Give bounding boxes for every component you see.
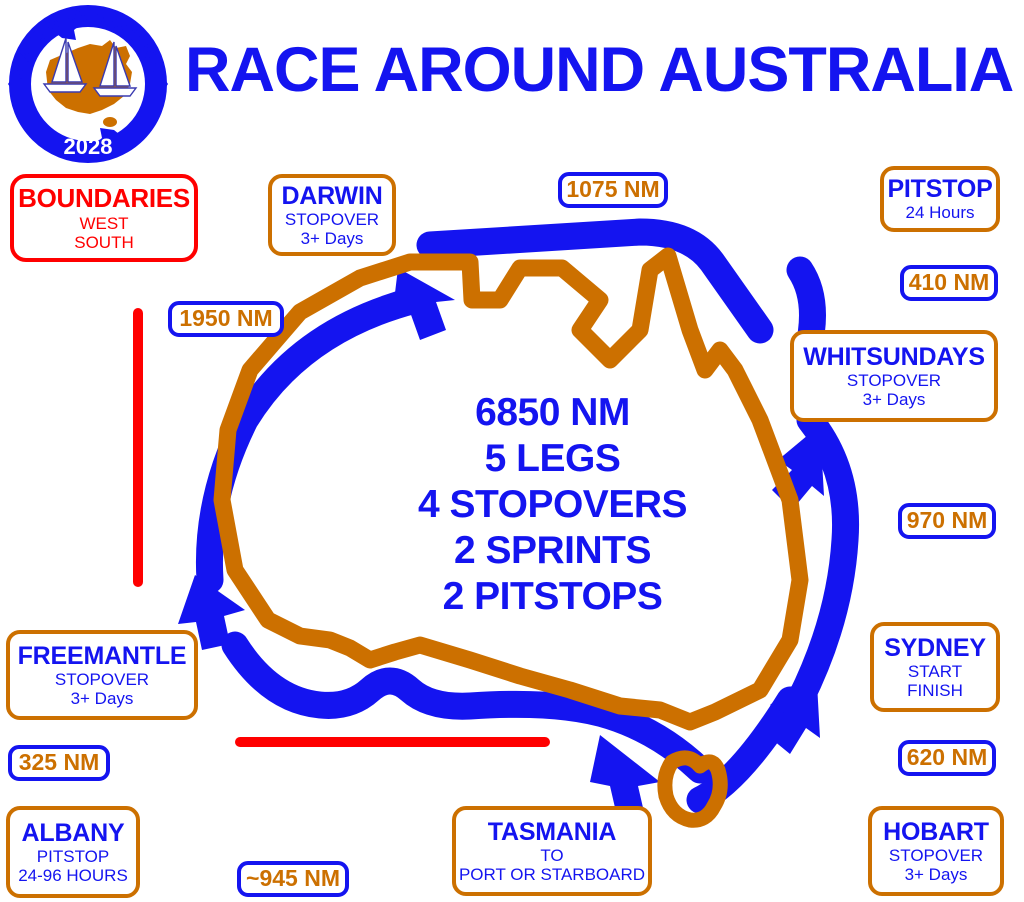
arrowhead-whitsundays: [772, 425, 824, 510]
freemantle-title: FREEMANTLE: [18, 642, 187, 670]
whitsundays-line-2: 3+ Days: [863, 390, 926, 409]
sydney-title: SYDNEY: [884, 634, 986, 662]
pitstop-title: PITSTOP: [887, 175, 992, 203]
boundaries-south: SOUTH: [74, 233, 134, 252]
stat-sprints: 2 SPRINTS: [380, 528, 725, 574]
tasmania-title: TASMANIA: [488, 818, 616, 846]
darwin-line-1: STOPOVER: [285, 210, 379, 229]
race-around-australia-logo: RACE AROUND 2028: [6, 4, 170, 168]
freemantle-line-1: STOPOVER: [55, 670, 149, 689]
sydney-line-1: START: [908, 662, 962, 681]
race-summary-stats: 6850 NM 5 LEGS 4 STOPOVERS 2 SPRINTS 2 P…: [380, 390, 725, 620]
place-box-pitstop[interactable]: PITSTOP 24 Hours: [880, 166, 1000, 232]
place-box-albany[interactable]: ALBANY PITSTOP 24-96 HOURS: [6, 806, 140, 898]
albany-line-1: PITSTOP: [37, 847, 109, 866]
distance-badge-hobart-leg: 620 NM: [898, 740, 996, 776]
sydney-line-2: FINISH: [907, 681, 963, 700]
stat-legs: 5 LEGS: [380, 436, 725, 482]
whitsundays-title: WHITSUNDAYS: [803, 343, 985, 371]
hobart-title: HOBART: [883, 818, 989, 846]
darwin-title: DARWIN: [281, 182, 382, 210]
freemantle-line-2: 3+ Days: [71, 689, 134, 708]
tasmania-island: [665, 758, 720, 820]
boundaries-title: BOUNDARIES: [18, 184, 190, 213]
infographic-canvas: RACE AROUND 2028 RACE AROUND AUSTRALIA: [0, 0, 1024, 902]
tasmania-line-1: TO: [540, 846, 563, 865]
arrowhead-darwin: [392, 268, 455, 340]
place-box-whitsundays[interactable]: WHITSUNDAYS STOPOVER 3+ Days: [790, 330, 998, 422]
distance-badge-sydney-leg: 970 NM: [898, 503, 996, 539]
whitsundays-line-1: STOPOVER: [847, 371, 941, 390]
albany-line-2: 24-96 HOURS: [18, 866, 128, 885]
place-box-darwin[interactable]: DARWIN STOPOVER 3+ Days: [268, 174, 396, 256]
logo-year: 2028: [64, 134, 113, 159]
distance-badge-whitsunday: 410 NM: [900, 265, 998, 301]
pitstop-line-1: 24 Hours: [906, 203, 975, 222]
distance-badge-albany-leg: 325 NM: [8, 745, 110, 781]
arrowhead-sydney: [768, 665, 820, 754]
distance-badge-west-leg: 1950 NM: [168, 301, 284, 337]
darwin-line-2: 3+ Days: [301, 229, 364, 248]
stat-distance: 6850 NM: [380, 390, 725, 436]
albany-title: ALBANY: [22, 819, 125, 847]
place-box-freemantle[interactable]: FREEMANTLE STOPOVER 3+ Days: [6, 630, 198, 720]
distance-badge-tasman-leg: ~945 NM: [237, 861, 349, 897]
place-box-tasmania[interactable]: TASMANIA TO PORT OR STARBOARD: [452, 806, 652, 896]
stat-pitstops: 2 PITSTOPS: [380, 574, 725, 620]
distance-badge-top: 1075 NM: [558, 172, 668, 208]
place-box-sydney[interactable]: SYDNEY START FINISH: [870, 622, 1000, 712]
boundaries-west: WEST: [79, 214, 128, 233]
place-box-hobart[interactable]: HOBART STOPOVER 3+ Days: [868, 806, 1004, 896]
hobart-line-1: STOPOVER: [889, 846, 983, 865]
page-title: RACE AROUND AUSTRALIA: [185, 34, 1005, 106]
tasmania-line-2: PORT OR STARBOARD: [459, 865, 645, 884]
boundaries-box: BOUNDARIES WEST SOUTH: [10, 174, 198, 262]
hobart-line-2: 3+ Days: [905, 865, 968, 884]
arrowhead-tasmania: [590, 735, 660, 812]
stat-stopovers: 4 STOPOVERS: [380, 482, 725, 528]
